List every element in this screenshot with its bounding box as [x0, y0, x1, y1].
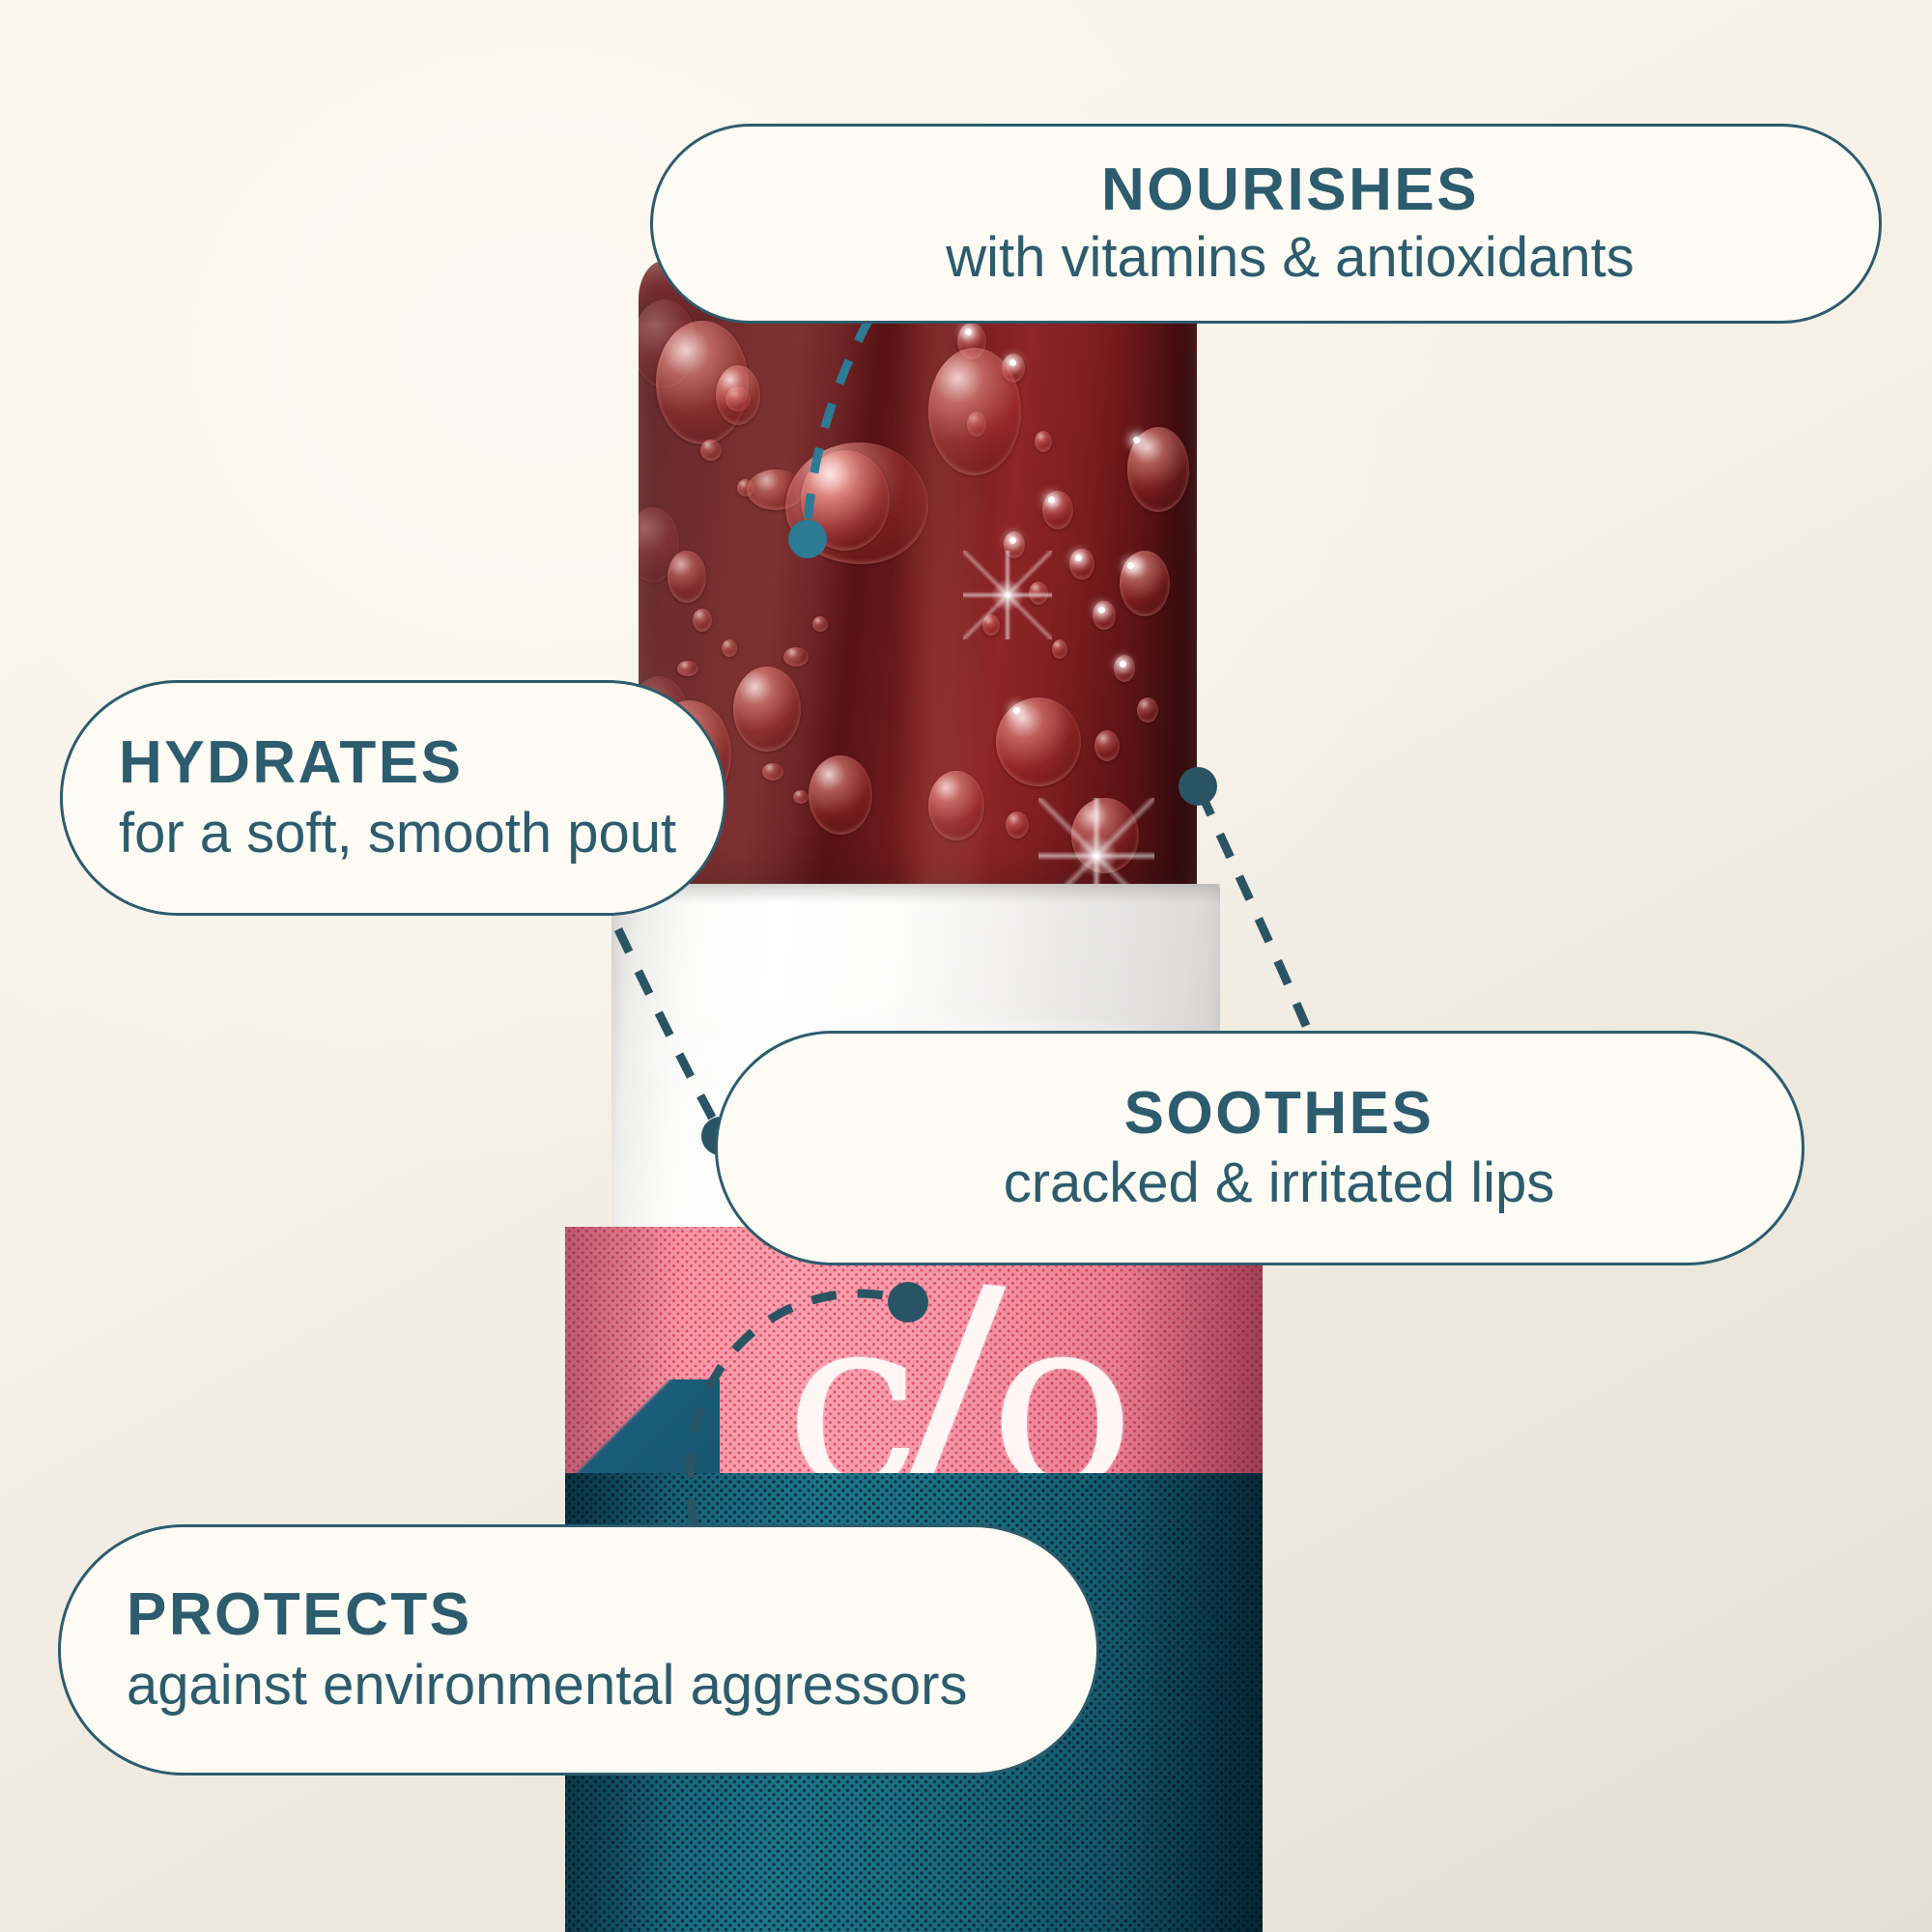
- callout-soothes[interactable]: SOOTHES cracked & irritated lips: [715, 1031, 1804, 1265]
- callout-protects-subtitle: against environmental aggressors: [127, 1657, 967, 1716]
- callout-nourishes-subtitle: with vitamins & antioxidants: [946, 229, 1634, 288]
- band-teal-corner: [565, 1379, 720, 1486]
- callout-hydrates-subtitle: for a soft, smooth pout: [119, 805, 676, 864]
- callout-hydrates-title: HYDRATES: [119, 732, 463, 793]
- callout-protects[interactable]: PROTECTS against environmental aggressor…: [58, 1524, 1099, 1776]
- callout-nourishes[interactable]: NOURISHES with vitamins & antioxidants: [650, 124, 1882, 324]
- callout-nourishes-title: NOURISHES: [1101, 159, 1479, 220]
- base-shadow-right: [1118, 1473, 1263, 1932]
- callout-soothes-title: SOOTHES: [1124, 1083, 1435, 1144]
- product-pink-band: c/o: [565, 1227, 1263, 1486]
- product-benefits-graphic: c/o NOURISHES with vitamins & antioxidan…: [0, 0, 1932, 1932]
- callout-hydrates[interactable]: HYDRATES for a soft, smooth pout: [60, 680, 726, 916]
- callout-soothes-subtitle: cracked & irritated lips: [1004, 1154, 1555, 1213]
- brand-logo: c/o: [785, 1240, 1129, 1486]
- band-shadow-right: [1118, 1227, 1263, 1486]
- callout-protects-title: PROTECTS: [127, 1584, 472, 1645]
